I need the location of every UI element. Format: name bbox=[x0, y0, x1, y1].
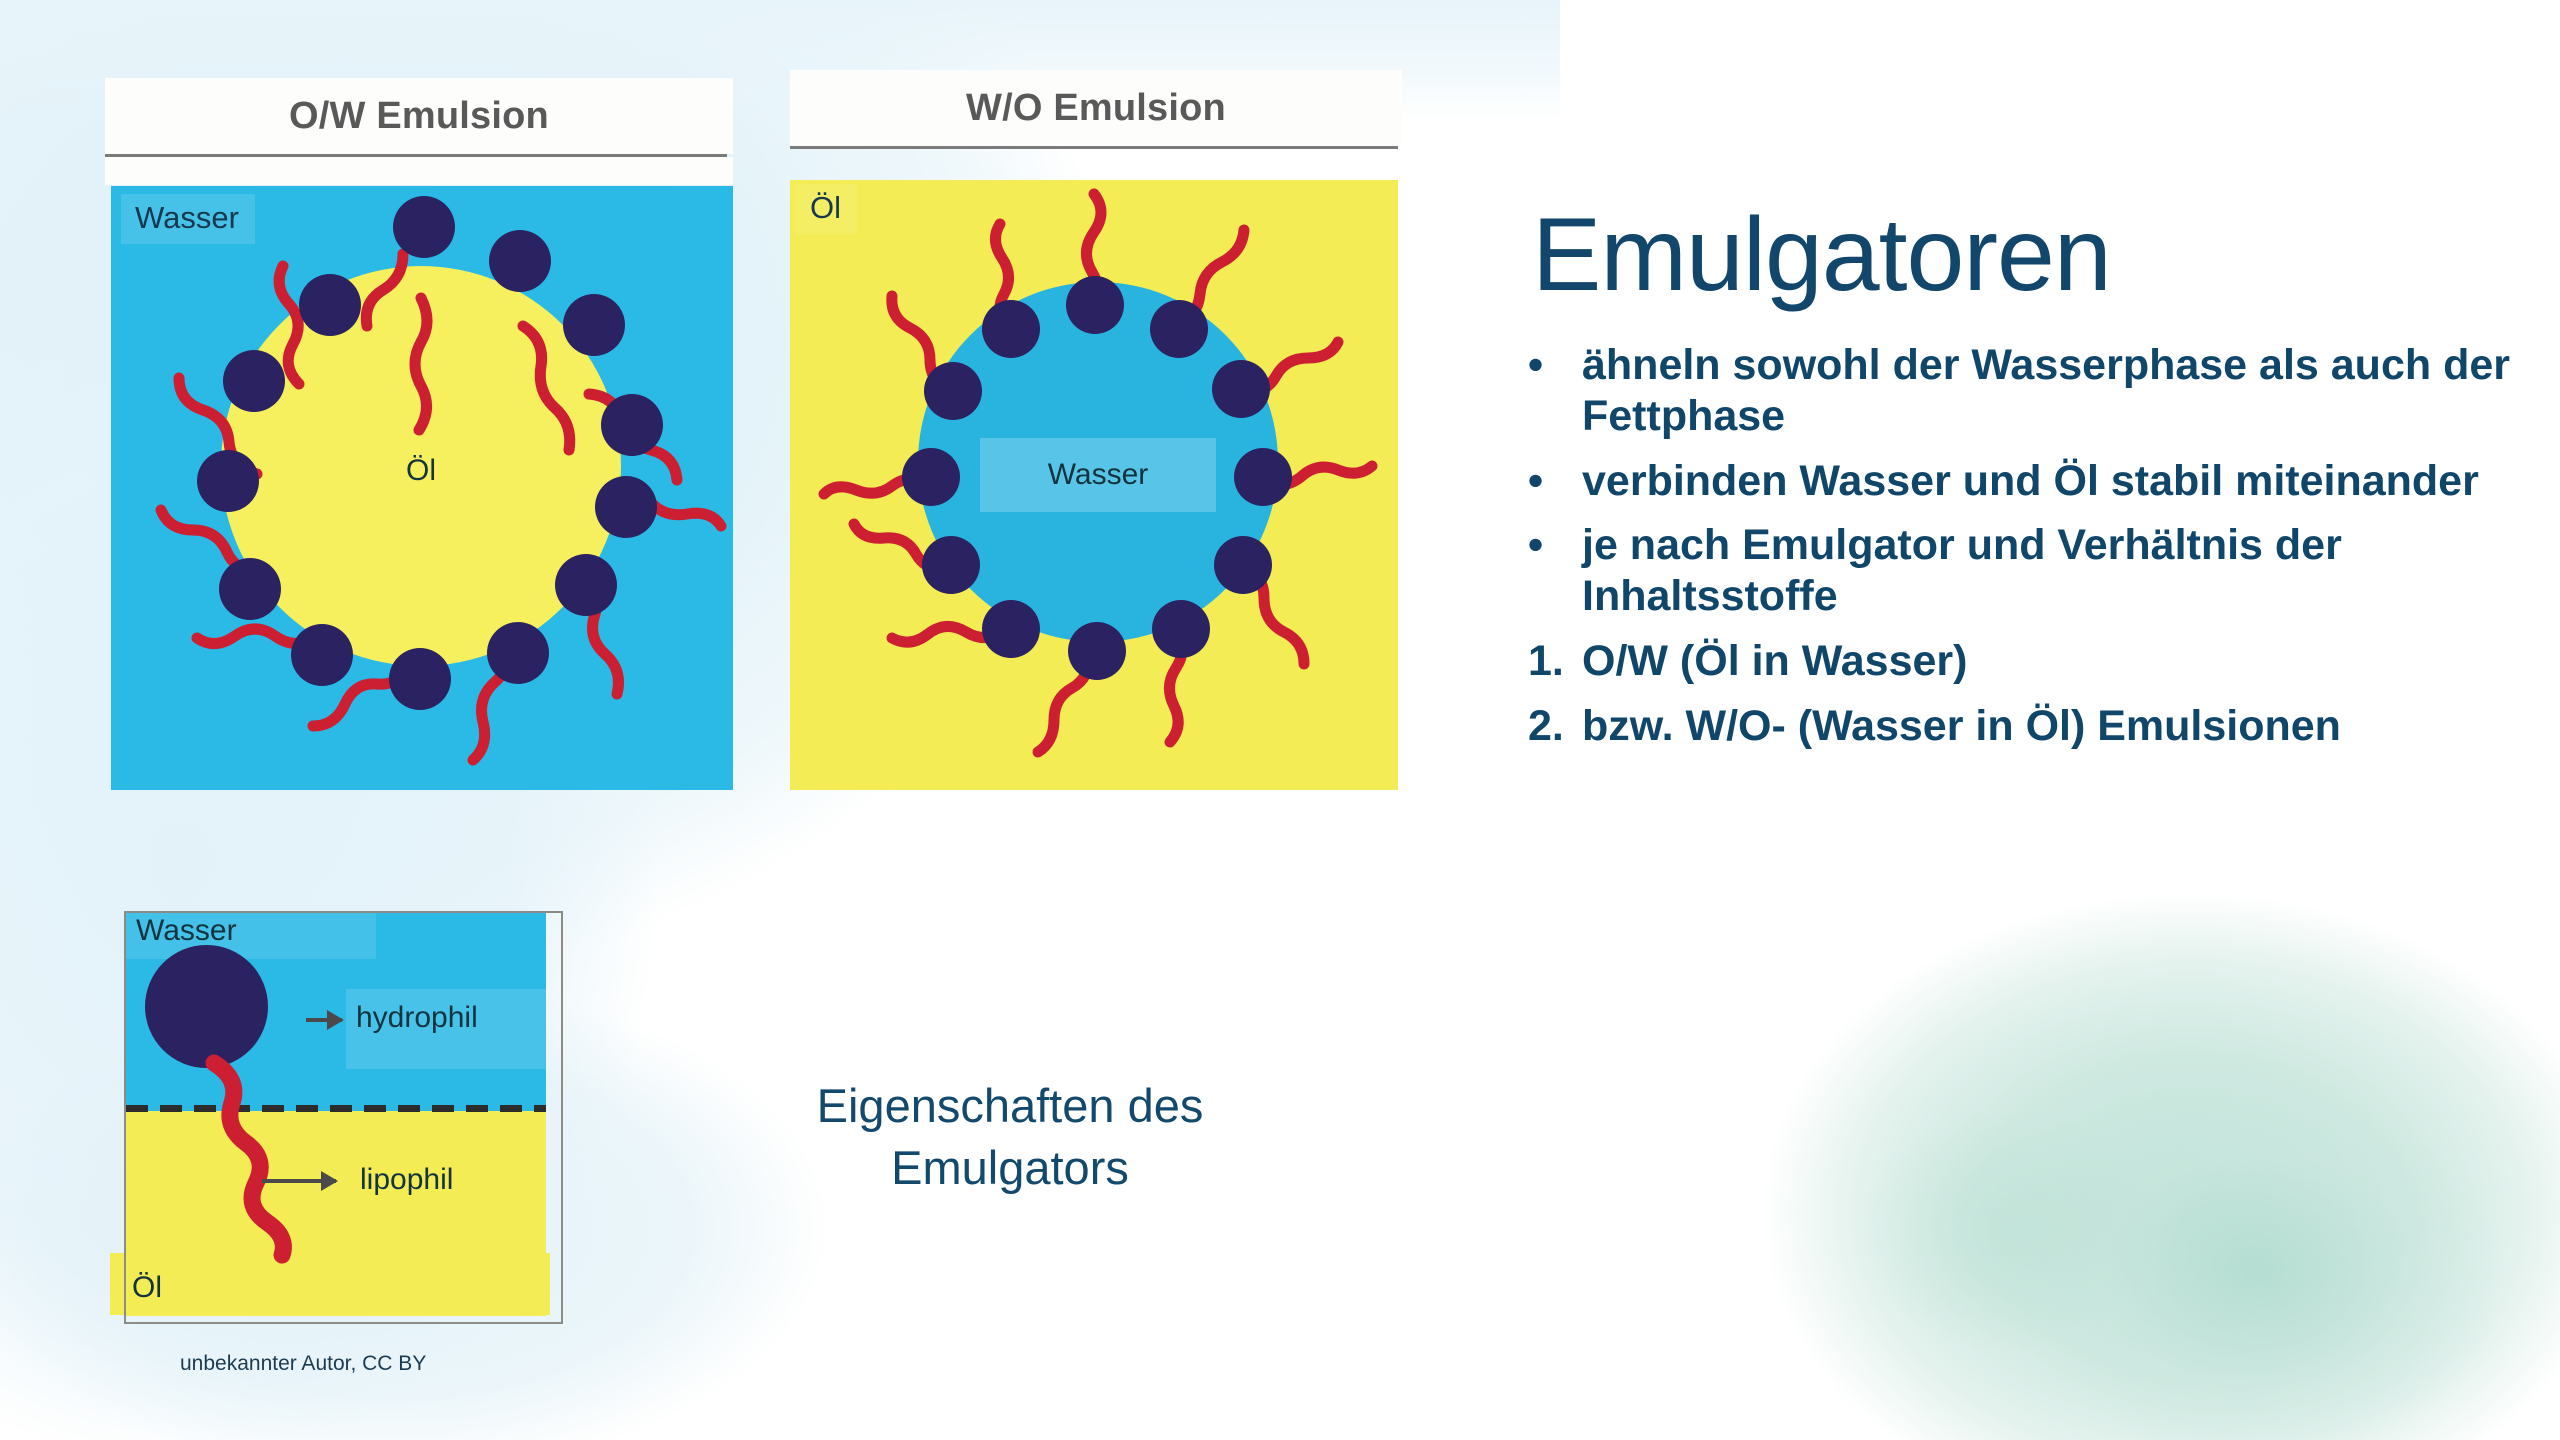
list-item-marker: 1. bbox=[1520, 636, 1582, 687]
ow-emulsion-header: O/W Emulsion bbox=[105, 78, 733, 154]
wo-head-bead bbox=[1150, 300, 1208, 358]
wo-head-bead bbox=[982, 600, 1040, 658]
figure-caption-line1: Eigenschaften des bbox=[660, 1075, 1360, 1137]
ow-emulsion-title: O/W Emulsion bbox=[289, 95, 549, 138]
list-item-label: bzw. W/O- (Wasser in Öl) Emulsionen bbox=[1582, 701, 2520, 752]
amphiphile-hydrophil-label: hydrophil bbox=[356, 1001, 478, 1035]
amphiphile-figure: Wasser hydrophil lipophil Öl bbox=[110, 905, 565, 1330]
ow-head-bead bbox=[489, 230, 551, 292]
ow-head-bead bbox=[595, 476, 657, 538]
ow-head-bead bbox=[555, 554, 617, 616]
list-item: • verbinden Wasser und Öl stabil miteina… bbox=[1520, 456, 2520, 507]
wo-emulsion-figure: W/O Emulsion Öl Wasser bbox=[790, 70, 1402, 790]
list-item-marker: • bbox=[1520, 456, 1582, 507]
list-item: 1. O/W (Öl in Wasser) bbox=[1520, 636, 2520, 687]
watercolor-wash-mint-small bbox=[1980, 1060, 2560, 1440]
watercolor-wash-mint-dot bbox=[1800, 1060, 2220, 1400]
list-item-label: ähneln sowohl der Wasserphase als auch d… bbox=[1582, 340, 2520, 441]
wo-head-bead bbox=[1214, 536, 1272, 594]
list-item-marker: • bbox=[1520, 520, 1582, 571]
ow-head-bead bbox=[601, 394, 663, 456]
amphiphile-lipophilic-tail bbox=[110, 905, 565, 1330]
wo-emulsion-title: W/O Emulsion bbox=[966, 87, 1226, 130]
ow-head-bead bbox=[389, 648, 451, 710]
wo-head-bead bbox=[1152, 600, 1210, 658]
ow-head-bead bbox=[291, 624, 353, 686]
list-item-marker: 2. bbox=[1520, 701, 1582, 752]
wo-head-bead bbox=[924, 362, 982, 420]
page-title: Emulgatoren bbox=[1532, 200, 2520, 310]
wo-head-bead bbox=[1212, 360, 1270, 418]
ow-head-bead bbox=[487, 622, 549, 684]
list-item-label: je nach Emulgator und Verhältnis der Inh… bbox=[1582, 520, 2520, 621]
figure-caption: Eigenschaften des Emulgators bbox=[660, 1075, 1360, 1199]
figure-caption-line2: Emulgators bbox=[660, 1137, 1360, 1199]
ow-head-bead bbox=[563, 294, 625, 356]
ow-head-bead bbox=[299, 274, 361, 336]
ow-head-bead bbox=[223, 350, 285, 412]
wo-surfactant-layer bbox=[790, 180, 1398, 790]
wo-emulsion-header: W/O Emulsion bbox=[790, 70, 1402, 146]
amphiphile-oil-label: Öl bbox=[132, 1271, 162, 1305]
content-bullet-list: • ähneln sowohl der Wasserphase als auch… bbox=[1520, 340, 2520, 751]
wo-head-bead bbox=[1066, 276, 1124, 334]
wo-head-bead bbox=[902, 448, 960, 506]
wo-emulsion-rule bbox=[790, 146, 1398, 149]
list-item: • je nach Emulgator und Verhältnis der I… bbox=[1520, 520, 2520, 621]
list-item-marker: • bbox=[1520, 340, 1582, 391]
wo-oil-phase: Öl Wasser bbox=[790, 180, 1398, 790]
content-column: Emulgatoren • ähneln sowohl der Wasserph… bbox=[1520, 200, 2520, 765]
ow-head-bead bbox=[197, 450, 259, 512]
wo-head-bead bbox=[1068, 622, 1126, 680]
amphiphile-lipophil-arrow bbox=[262, 1179, 336, 1183]
list-item: 2. bzw. W/O- (Wasser in Öl) Emulsionen bbox=[1520, 701, 2520, 752]
ow-emulsion-subheader-spacer bbox=[105, 157, 733, 185]
list-item-label: O/W (Öl in Wasser) bbox=[1582, 636, 2520, 687]
ow-head-bead bbox=[393, 196, 455, 258]
list-item: • ähneln sowohl der Wasserphase als auch… bbox=[1520, 340, 2520, 441]
wo-head-bead bbox=[982, 300, 1040, 358]
list-item-label: verbinden Wasser und Öl stabil miteinand… bbox=[1582, 456, 2520, 507]
wo-head-bead bbox=[1234, 448, 1292, 506]
amphiphile-lipophil-label: lipophil bbox=[360, 1163, 453, 1197]
wo-head-bead bbox=[922, 536, 980, 594]
amphiphile-credit: unbekannter Autor, CC BY bbox=[180, 1352, 426, 1376]
amphiphile-hydrophil-arrow bbox=[306, 1018, 342, 1022]
ow-water-phase: Wasser Öl bbox=[111, 186, 733, 790]
ow-head-bead bbox=[219, 558, 281, 620]
slide-canvas: O/W Emulsion Wasser Öl bbox=[0, 0, 2560, 1440]
ow-emulsion-figure: O/W Emulsion Wasser Öl bbox=[105, 78, 733, 790]
watercolor-wash-mint-large bbox=[1700, 870, 2560, 1440]
